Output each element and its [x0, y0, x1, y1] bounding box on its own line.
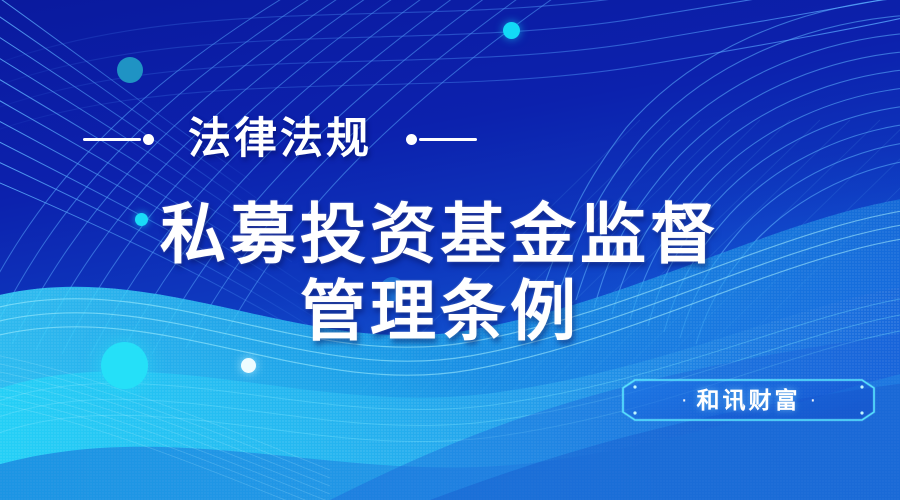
dot-line-rule-icon — [406, 134, 477, 145]
page-title: 私募投资基金监督 管理条例 — [0, 196, 880, 349]
category-row: 法律法规 — [0, 108, 560, 170]
white-circle-small-icon — [241, 358, 256, 373]
page-title-line-2: 管理条例 — [0, 273, 880, 350]
badge-label: 和讯财富 — [697, 389, 801, 412]
badge-right-dot: · — [810, 390, 817, 410]
page-title-line-1: 私募投资基金监督 — [0, 196, 880, 273]
badge-left-dot: · — [681, 390, 688, 410]
line-dot-rule-icon — [83, 134, 154, 145]
brand-badge[interactable]: · 和讯财富 · — [621, 378, 876, 422]
cyan-circle-top-icon — [503, 22, 520, 39]
teal-circle-icon — [117, 57, 143, 83]
category-label: 法律法规 — [188, 118, 372, 161]
legal-regulation-banner: 法律法规 私募投资基金监督 管理条例 · 和讯财富 — [0, 0, 900, 500]
